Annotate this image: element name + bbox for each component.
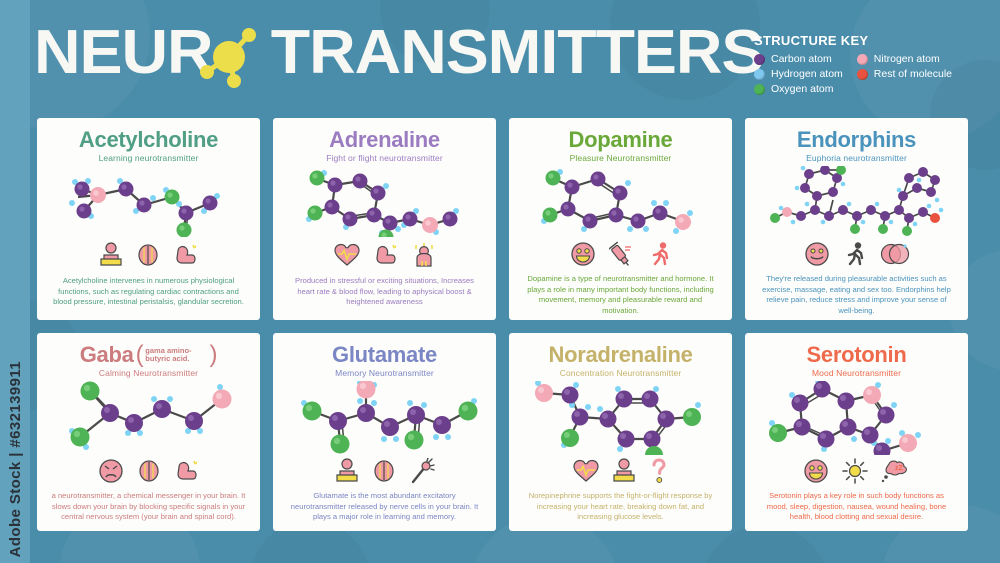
smiley-icon <box>804 241 830 267</box>
card-subtitle: Concentration Neurotransmitter <box>560 368 682 378</box>
card-title: Noradrenaline <box>548 343 692 367</box>
running-person-icon <box>843 241 867 267</box>
card-serotonin[interactable]: Serotonin Mood Neurotransmitter <box>745 333 968 531</box>
sleep-thought-icon: zZ <box>881 458 911 484</box>
person-reading-icon <box>335 458 359 484</box>
open-paren: ( <box>136 343 144 367</box>
card-description: They're released during pleasurable acti… <box>753 274 960 316</box>
card-adrenaline[interactable]: Adrenaline Fight or flight neurotransmit… <box>273 118 496 320</box>
card-icons-noradrenaline <box>573 458 669 484</box>
running-person-icon <box>648 241 672 267</box>
card-icons-glutamate <box>335 458 435 484</box>
card-icons-dopamine <box>570 241 672 267</box>
heartbeat-icon <box>573 459 599 483</box>
card-title: Endorphins <box>797 128 916 152</box>
close-paren: ) <box>210 343 218 367</box>
cards-grid: Acetylcholine Learning neurotransmitter <box>37 118 968 531</box>
molecule-diagram-glutamate <box>290 381 480 455</box>
flexed-arm-icon <box>173 242 199 268</box>
title-part-2: TRANSMITTERS <box>271 18 764 87</box>
atom-dot-icon <box>857 69 868 80</box>
key-label: Nitrogen atom <box>874 53 940 65</box>
card-title: Acetylcholine <box>79 128 218 152</box>
card-acetylcholine[interactable]: Acetylcholine Learning neurotransmitter <box>37 118 260 320</box>
structure-key-column-right: Nitrogen atom Rest of molecule <box>857 53 952 95</box>
watermark-text: Adobe Stock | #632139911 <box>7 361 24 557</box>
title-part-1: NEUR <box>34 18 213 87</box>
key-item-hydrogen: Hydrogen atom <box>754 68 843 80</box>
card-endorphins[interactable]: Endorphins Euphoria neurotransmitter <box>745 118 968 320</box>
brain-icon <box>136 242 160 268</box>
card-subtitle: Pleasure Neurotransmitter <box>570 153 672 163</box>
happy-face-icon <box>803 458 829 484</box>
card-glutamate[interactable]: Glutamate Memory Neurotransmitter <box>273 333 496 531</box>
flexed-arm-icon <box>174 458 200 484</box>
atom-dot-icon <box>857 54 868 65</box>
heartbeat-icon <box>334 243 360 267</box>
sun-icon <box>842 458 868 484</box>
atom-dot-icon <box>754 54 765 65</box>
card-subtitle: Learning neurotransmitter <box>99 153 199 163</box>
atom-dot-icon <box>754 84 765 95</box>
key-item-carbon: Carbon atom <box>754 53 843 65</box>
card-subtitle: Mood Neurotransmitter <box>812 368 901 378</box>
overlapping-circles-icon <box>880 241 910 267</box>
syringe-icon <box>609 241 635 267</box>
card-subtitle: Euphoria neurotransmitter <box>806 153 907 163</box>
card-title-annotation: gama amino- butyric acid. <box>145 347 191 364</box>
molecule-diagram-acetylcholine <box>54 167 244 237</box>
key-label: Rest of molecule <box>874 68 952 80</box>
structure-key-heading: STRUCTURE KEY <box>754 33 982 48</box>
key-item-oxygen: Oxygen atom <box>754 83 843 95</box>
atom-dot-icon <box>754 69 765 80</box>
card-icons-serotonin: zZ <box>803 458 911 484</box>
cards-row-1: Acetylcholine Learning neurotransmitter <box>37 118 968 320</box>
structure-key-column-left: Carbon atom Hydrogen atom Oxygen atom <box>754 53 843 95</box>
card-noradrenaline[interactable]: Noradrenaline Concentration Neurotransmi… <box>509 333 732 531</box>
alert-person-icon <box>412 242 436 268</box>
card-icons-adrenaline <box>334 241 436 269</box>
molecule-diagram-adrenaline <box>290 167 480 237</box>
card-subtitle: Fight or flight neurotransmitter <box>326 153 443 163</box>
annotation-line-2: butyric acid. <box>145 354 189 363</box>
sad-face-icon <box>98 458 124 484</box>
card-subtitle: Calming Neurotransmitter <box>99 368 198 378</box>
card-gaba[interactable]: Gaba ( gama amino- butyric acid. ) Calmi… <box>37 333 260 531</box>
card-title: Gaba ( gama amino- butyric acid. ) <box>80 343 218 367</box>
brain-icon <box>372 458 396 484</box>
infographic-canvas: NEURTRANSMITTERS STRUCTURE KEY Carbon at… <box>0 0 1000 563</box>
card-icons-acetylcholine <box>99 241 199 269</box>
person-reading-icon <box>612 458 636 484</box>
card-description: Glutamate is the most abundant excitator… <box>281 491 488 523</box>
card-title: Adrenaline <box>329 128 440 152</box>
cards-row-2: Gaba ( gama amino- butyric acid. ) Calmi… <box>37 333 968 531</box>
card-description: Dopamine is a type of neurotransmitter a… <box>517 274 724 316</box>
flexed-arm-icon <box>373 242 399 268</box>
card-subtitle: Memory Neurotransmitter <box>335 368 434 378</box>
card-description: a neurotransmitter, a chemical messenger… <box>45 491 252 523</box>
card-title: Dopamine <box>569 128 673 152</box>
card-icons-gaba <box>98 458 200 484</box>
molecule-diagram-serotonin <box>762 381 952 455</box>
key-label: Oxygen atom <box>771 83 833 95</box>
structure-key: STRUCTURE KEY Carbon atom Hydrogen atom … <box>754 33 982 95</box>
molecule-icon <box>196 26 262 88</box>
molecule-diagram-gaba <box>54 381 244 455</box>
card-description: Produced in stressful or exciting situat… <box>281 276 488 308</box>
card-icons-endorphins <box>804 241 910 267</box>
key-label: Carbon atom <box>771 53 832 65</box>
watermark-strip: Adobe Stock | #632139911 <box>0 0 30 563</box>
card-description: Norepinephrine supports the fight-or-fli… <box>517 491 724 523</box>
page-title: NEURTRANSMITTERS <box>34 22 763 84</box>
molecule-diagram-endorphins <box>757 167 957 237</box>
card-title: Serotonin <box>807 343 907 367</box>
svg-text:zZ: zZ <box>895 465 904 472</box>
nerve-cell-icon <box>409 458 435 484</box>
question-mark-icon <box>649 458 669 484</box>
card-dopamine[interactable]: Dopamine Pleasure Neurotransmitter <box>509 118 732 320</box>
key-label: Hydrogen atom <box>771 68 843 80</box>
molecule-diagram-noradrenaline <box>526 381 716 455</box>
smiley-icon <box>570 241 596 267</box>
key-item-nitrogen: Nitrogen atom <box>857 53 952 65</box>
card-description: Serotonin plays a key role in such body … <box>753 491 960 523</box>
card-description: Acetylcholine intervenes in numerous phy… <box>45 276 252 308</box>
brain-icon <box>137 458 161 484</box>
key-item-rest-of-molecule: Rest of molecule <box>857 68 952 80</box>
card-title-text: Gaba <box>80 343 134 367</box>
person-reading-icon <box>99 242 123 268</box>
molecule-diagram-dopamine <box>526 167 716 237</box>
card-title: Glutamate <box>332 343 437 367</box>
